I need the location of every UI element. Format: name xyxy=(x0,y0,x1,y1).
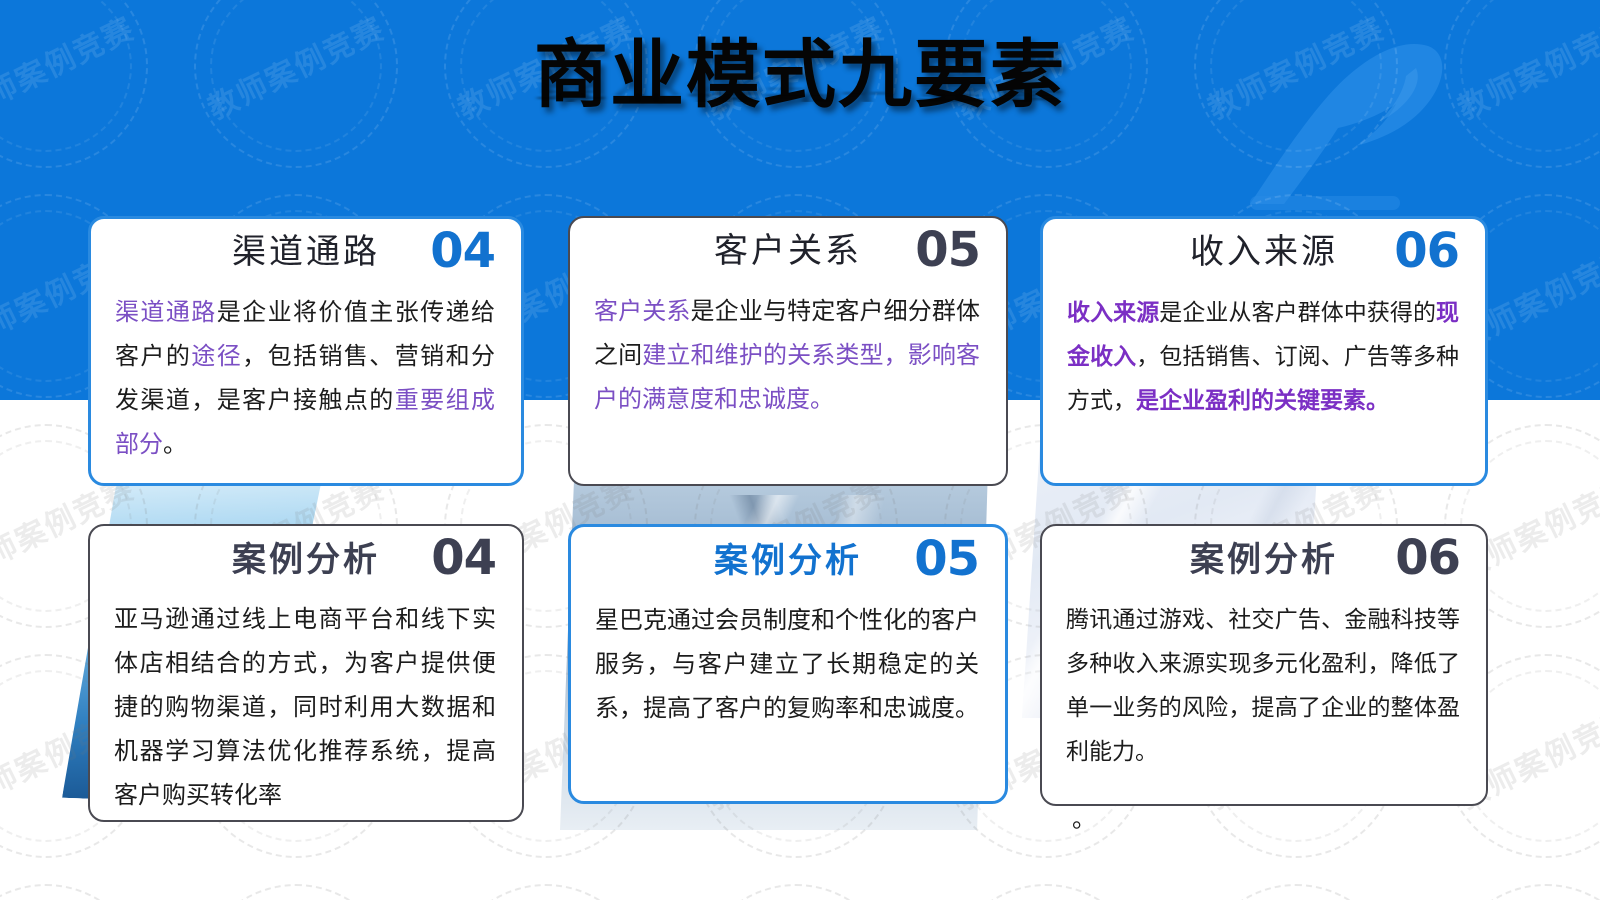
watermark-tile: 教师案例竞赛 xyxy=(1170,860,1420,900)
card-header: 案例分析 06 xyxy=(1042,526,1486,598)
watermark-ring-outer xyxy=(194,884,398,900)
watermark-tile: 教师案例竞赛 xyxy=(170,860,420,900)
card-revenue-streams[interactable]: 收入来源 06 收入来源是企业从客户群体中获得的现金收入，包括销售、订阅、广告等… xyxy=(1040,216,1488,486)
body-text-run: 。 xyxy=(163,432,187,458)
watermark-ring-outer xyxy=(1194,884,1398,900)
card-body: 渠道通路是企业将价值主张传递给客户的途径，包括销售、营销和分发渠道，是客户接触点… xyxy=(91,291,521,467)
card-number: 06 xyxy=(1394,223,1459,279)
card-header: 客户关系 05 xyxy=(570,218,1006,290)
card-header: 收入来源 06 xyxy=(1043,219,1485,291)
card-body: 亚马逊通过线上电商平台和线下实体店相结合的方式，为客户提供便捷的购物渠道，同时利… xyxy=(90,598,522,818)
body-text-run: 是企业盈利的关键要素。 xyxy=(1136,388,1389,414)
body-text-run: 收入来源 xyxy=(1067,300,1159,326)
body-text-run: 渠道通路 xyxy=(115,300,217,326)
card-case-study-05[interactable]: 案例分析 05 星巴克通过会员制度和个性化的客户服务，与客户建立了长期稳定的关系… xyxy=(568,524,1008,804)
card-number: 04 xyxy=(431,530,496,586)
card-channels[interactable]: 渠道通路 04 渠道通路是企业将价值主张传递给客户的途径，包括销售、营销和分发渠… xyxy=(88,216,524,486)
card-body: 收入来源是企业从客户群体中获得的现金收入，包括销售、订阅、广告等多种方式，是企业… xyxy=(1043,291,1485,423)
body-text-run: 建立和维护的关系类型，影响客户的满意度和忠诚度。 xyxy=(594,343,980,413)
card-customer-relationships[interactable]: 客户关系 05 客户关系是企业与特定客户细分群体之间建立和维护的关系类型，影响客… xyxy=(568,216,1008,486)
watermark-tile: 教师案例竞赛 xyxy=(0,860,170,900)
body-text-run: 客户关系 xyxy=(594,299,691,325)
watermark-tile: 教师案例竞赛 xyxy=(1420,860,1600,900)
slide-stage: 教师案例竞赛教师案例竞赛教师案例竞赛教师案例竞赛教师案例竞赛教师案例竞赛教师案例… xyxy=(0,0,1600,900)
body-text-run: 星巴克通过会员制度和个性化的客户服务，与客户建立了长期稳定的关系，提高了客户的复… xyxy=(595,608,979,722)
watermark-tile: 教师案例竞赛 xyxy=(420,860,670,900)
card-case-study-04[interactable]: 案例分析 04 亚马逊通过线上电商平台和线下实体店相结合的方式，为客户提供便捷的… xyxy=(88,524,524,822)
card-header: 案例分析 05 xyxy=(571,527,1005,599)
watermark-ring-outer xyxy=(944,884,1148,900)
watermark-tile: 教师案例竞赛 xyxy=(920,860,1170,900)
card-header: 案例分析 04 xyxy=(90,526,522,598)
watermark-ring-outer xyxy=(694,884,898,900)
card-number: 05 xyxy=(914,531,979,587)
watermark-ring-outer xyxy=(444,884,648,900)
watermark-ring-outer xyxy=(0,884,148,900)
card-number: 05 xyxy=(915,222,980,278)
card-number: 06 xyxy=(1395,530,1460,586)
card-body: 星巴克通过会员制度和个性化的客户服务，与客户建立了长期稳定的关系，提高了客户的复… xyxy=(571,599,1005,731)
card-number: 04 xyxy=(430,223,495,279)
card-body: 腾讯通过游戏、社交广告、金融科技等多种收入来源实现多元化盈利，降低了单一业务的风… xyxy=(1042,598,1486,774)
card-case-study-06[interactable]: 案例分析 06 腾讯通过游戏、社交广告、金融科技等多种收入来源实现多元化盈利，降… xyxy=(1040,524,1488,806)
card-body: 客户关系是企业与特定客户细分群体之间建立和维护的关系类型，影响客户的满意度和忠诚… xyxy=(570,290,1006,422)
card-header: 渠道通路 04 xyxy=(91,219,521,291)
watermark-ring-outer xyxy=(1444,884,1600,900)
stray-period-text: 。 xyxy=(1072,806,1096,834)
body-text-run: 腾讯通过游戏、社交广告、金融科技等多种收入来源实现多元化盈利，降低了单一业务的风… xyxy=(1066,607,1460,765)
body-text-run: 途径 xyxy=(191,344,242,370)
body-text-run: 是企业从客户群体中获得的 xyxy=(1159,300,1436,326)
body-text-run: 亚马逊通过线上电商平台和线下实体店相结合的方式，为客户提供便捷的购物渠道，同时利… xyxy=(114,607,496,809)
watermark-tile: 教师案例竞赛 xyxy=(670,860,920,900)
